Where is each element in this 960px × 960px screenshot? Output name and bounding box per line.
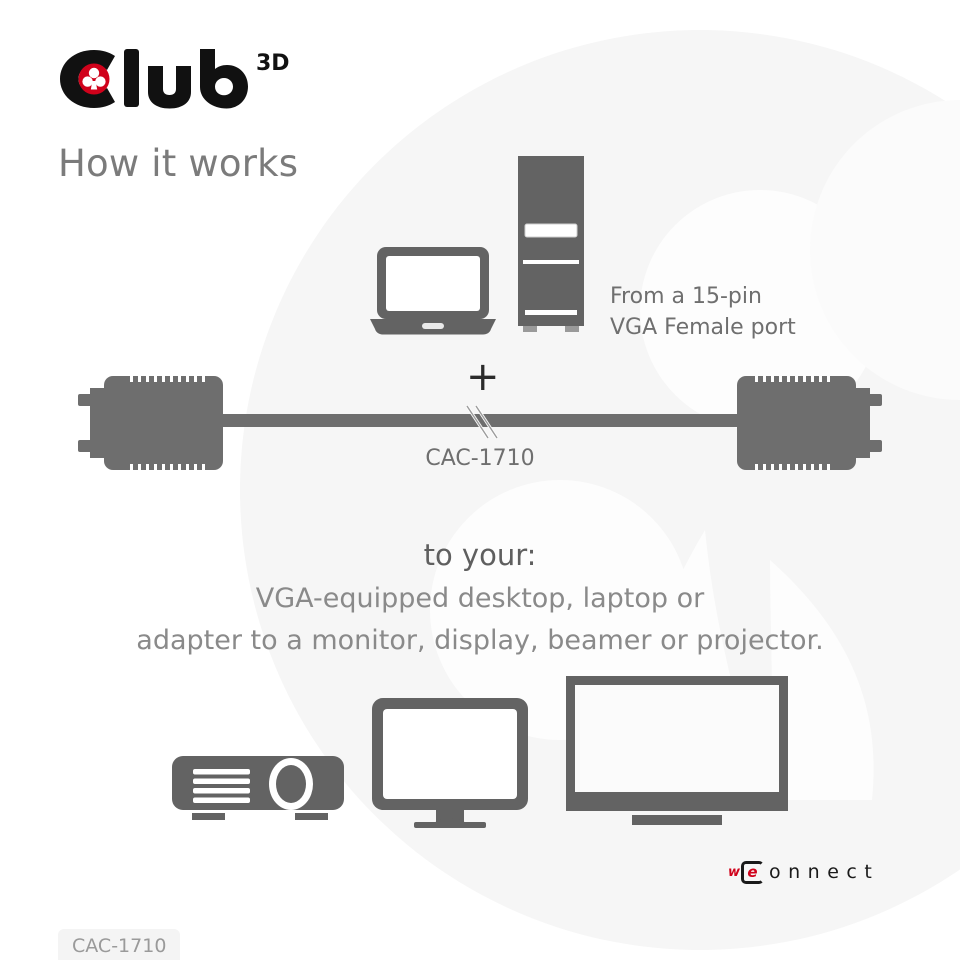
source-port-label: From a 15-pin VGA Female port (610, 281, 796, 343)
monitor-icon (370, 698, 530, 828)
desktop-tower-icon (516, 156, 586, 334)
weconnect-e: e (747, 865, 757, 880)
destination-description: VGA-equipped desktop, laptop or adapter … (0, 578, 960, 662)
page-title: How it works (58, 142, 298, 185)
infographic-page: 3D How it works From a 15-pin VGA Female… (0, 0, 960, 960)
source-port-line2: VGA Female port (610, 315, 796, 340)
projector-icon (172, 752, 344, 828)
source-port-line1: From a 15-pin (610, 284, 762, 309)
weconnect-wordmark: onnect (769, 863, 879, 882)
destination-line2: adapter to a monitor, display, beamer or… (0, 620, 960, 662)
svg-text:3D: 3D (256, 51, 290, 76)
laptop-icon (370, 247, 496, 335)
weconnect-c-icon: e (741, 861, 764, 884)
tv-icon (566, 676, 788, 828)
destination-headline: to your: (0, 538, 960, 572)
club3d-logo: 3D (60, 48, 320, 110)
cable-part-label: CAC-1710 (0, 446, 960, 471)
weconnect-logo: w e onnect (728, 855, 879, 889)
sku-badge: CAC-1710 (58, 929, 180, 960)
weconnect-w: w (728, 866, 740, 879)
destination-line1: VGA-equipped desktop, laptop or (0, 578, 960, 620)
